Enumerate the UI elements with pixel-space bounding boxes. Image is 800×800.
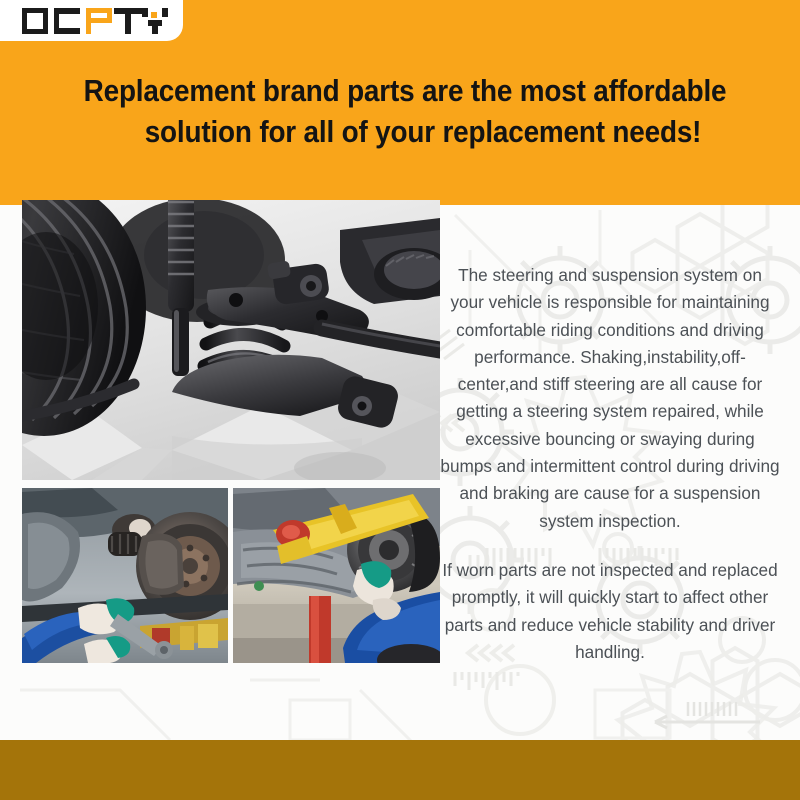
brand-logo[interactable] — [0, 0, 183, 41]
main-product-photo — [22, 200, 440, 480]
body-copy: The steering and suspension system on yo… — [440, 262, 780, 666]
headline-line-2: solution for all of your replacement nee… — [77, 111, 734, 152]
footer-bar — [0, 740, 800, 800]
headline-line-1: Replacement brand parts are the most aff… — [77, 70, 734, 111]
body-paragraph-2: If worn parts are not inspected and repl… — [440, 557, 780, 666]
body-paragraph-1: The steering and suspension system on yo… — [440, 262, 780, 535]
promo-banner-page: Replacement brand parts are the most aff… — [0, 0, 800, 800]
service-photo-under-lift — [233, 488, 440, 663]
page-headline: Replacement brand parts are the most aff… — [77, 70, 734, 152]
service-photo-brake-rotor — [22, 488, 228, 663]
ocpty-logo-icon — [22, 8, 168, 34]
